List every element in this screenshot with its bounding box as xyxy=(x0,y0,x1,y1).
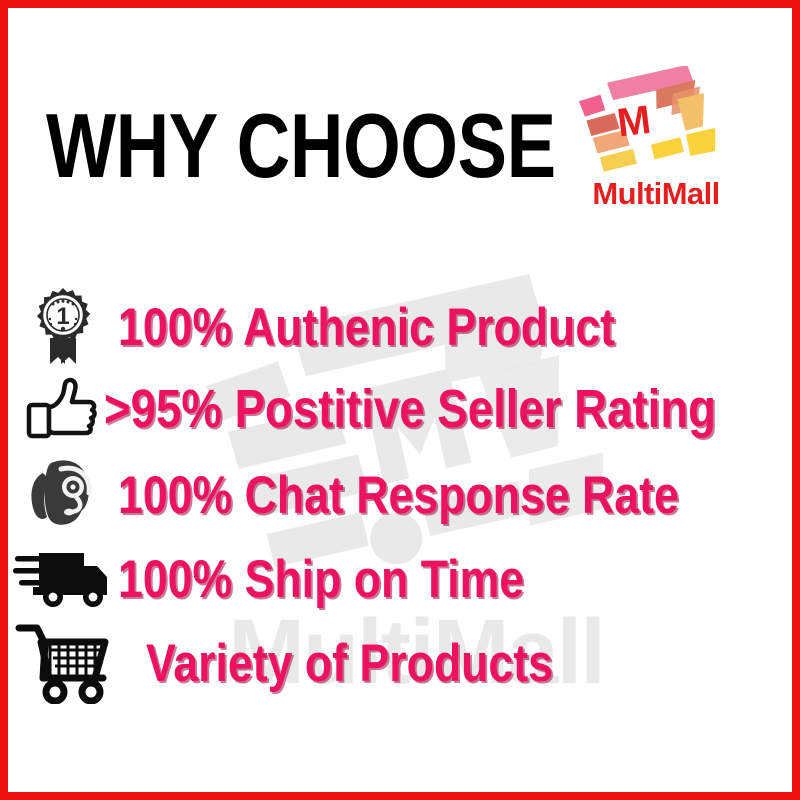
page-title: WHY CHOOSE xyxy=(46,100,556,191)
feature-label: 100% Chat Response Rate xyxy=(118,468,679,521)
feature-list: 1 100% Authenic Product >95% Postitive S… xyxy=(8,284,792,704)
feature-row: 100% Chat Response Rate xyxy=(8,452,792,536)
brand-name: MultiMall xyxy=(568,178,744,209)
feature-label: 100% Authenic Product xyxy=(118,300,615,353)
feature-row: >95% Postitive Seller Rating xyxy=(8,368,792,452)
svg-text:1: 1 xyxy=(56,303,69,330)
headset-agent-icon xyxy=(8,452,118,536)
svg-text:M: M xyxy=(615,98,653,146)
delivery-truck-icon xyxy=(8,536,118,620)
shopping-cart-icon xyxy=(8,620,118,704)
feature-row: 100% Ship on Time xyxy=(8,536,792,620)
feature-row: Variety of Products xyxy=(8,620,792,704)
thumbs-up-icon xyxy=(8,368,118,452)
feature-row: 1 100% Authenic Product xyxy=(8,284,792,368)
award-badge-icon: 1 xyxy=(8,284,118,368)
brand-logo: M MultiMall xyxy=(568,66,744,218)
shopping-cart-logo-icon: M xyxy=(568,66,744,176)
why-choose-banner: MultiMall WHY CHOOSE xyxy=(0,0,800,800)
feature-label: >95% Postitive Seller Rating xyxy=(104,383,716,437)
feature-label: 100% Ship on Time xyxy=(118,552,524,605)
feature-label: Variety of Products xyxy=(146,636,553,689)
